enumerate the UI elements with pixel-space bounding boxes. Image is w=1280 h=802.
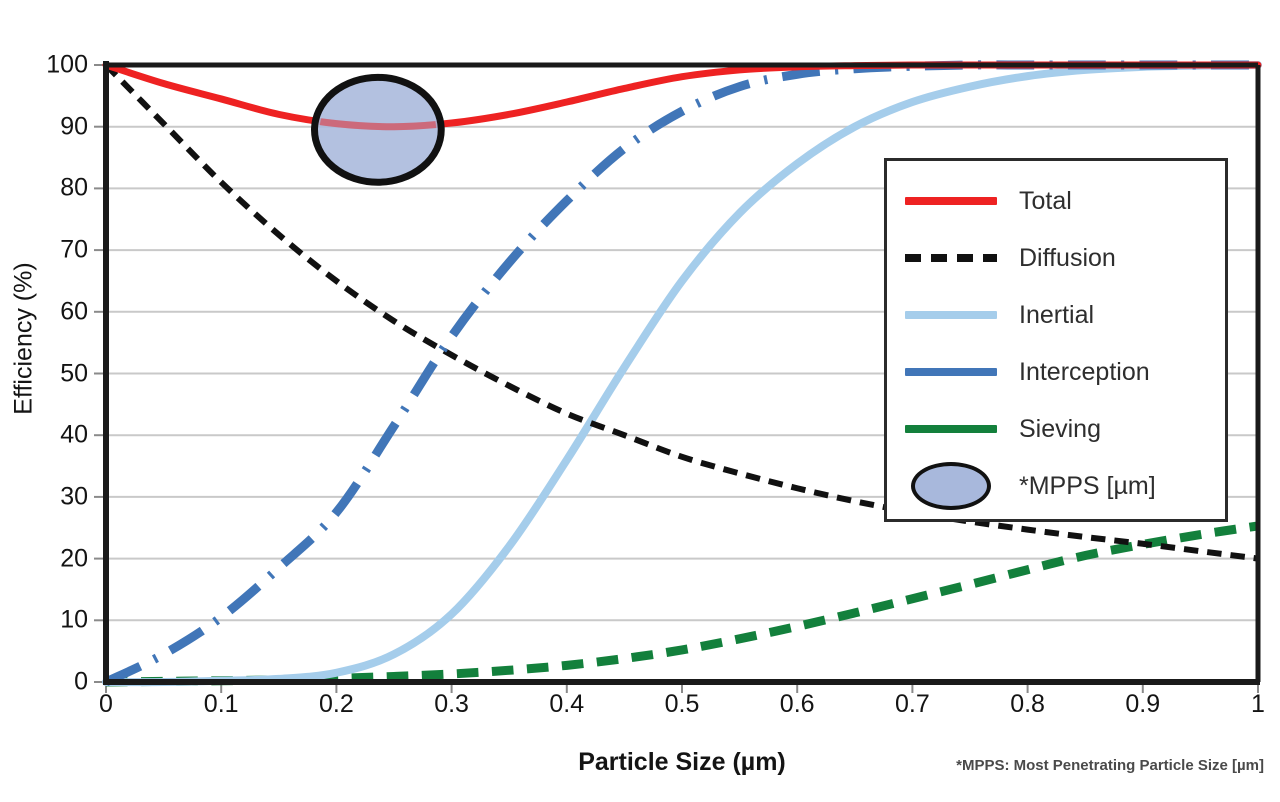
legend-item-interception[interactable]: Interception: [887, 346, 1225, 398]
solid-line-icon: [905, 368, 997, 376]
mpps-ellipse-icon: [911, 462, 991, 510]
legend-item-label: Sieving: [1019, 415, 1101, 444]
line-swatch-total: [905, 186, 997, 216]
line-swatch-inertial: [905, 300, 997, 330]
legend-item-mpps-m[interactable]: *MPPS [µm]: [887, 460, 1225, 512]
line-swatch-sieving: [905, 414, 997, 444]
solid-line-icon: [905, 311, 997, 319]
chart-figure: Efficiency (%) Particle Size (µm) *MPPS:…: [0, 0, 1280, 802]
legend-item-label: Diffusion: [1019, 244, 1116, 273]
legend-item-total[interactable]: Total: [887, 175, 1225, 227]
dashed-line-icon: [905, 254, 997, 262]
legend-item-label: Total: [1019, 187, 1072, 216]
legend-item-label: Interception: [1019, 358, 1150, 387]
legend-item-diffusion[interactable]: Diffusion: [887, 232, 1225, 284]
series-line-total: [106, 65, 1258, 127]
legend-item-label: Inertial: [1019, 301, 1094, 330]
legend-item-inertial[interactable]: Inertial: [887, 289, 1225, 341]
legend-item-sieving[interactable]: Sieving: [887, 403, 1225, 455]
ellipse-swatch-mpps: [905, 471, 997, 501]
line-swatch-interception: [905, 357, 997, 387]
legend-item-label: *MPPS [µm]: [1019, 472, 1156, 501]
chart-legend: TotalDiffusionInertialInterceptionSievin…: [884, 158, 1228, 522]
series-line-sieving: [106, 526, 1258, 682]
line-swatch-diffusion: [905, 243, 997, 273]
solid-line-icon: [905, 197, 997, 205]
solid-line-icon: [905, 425, 997, 433]
